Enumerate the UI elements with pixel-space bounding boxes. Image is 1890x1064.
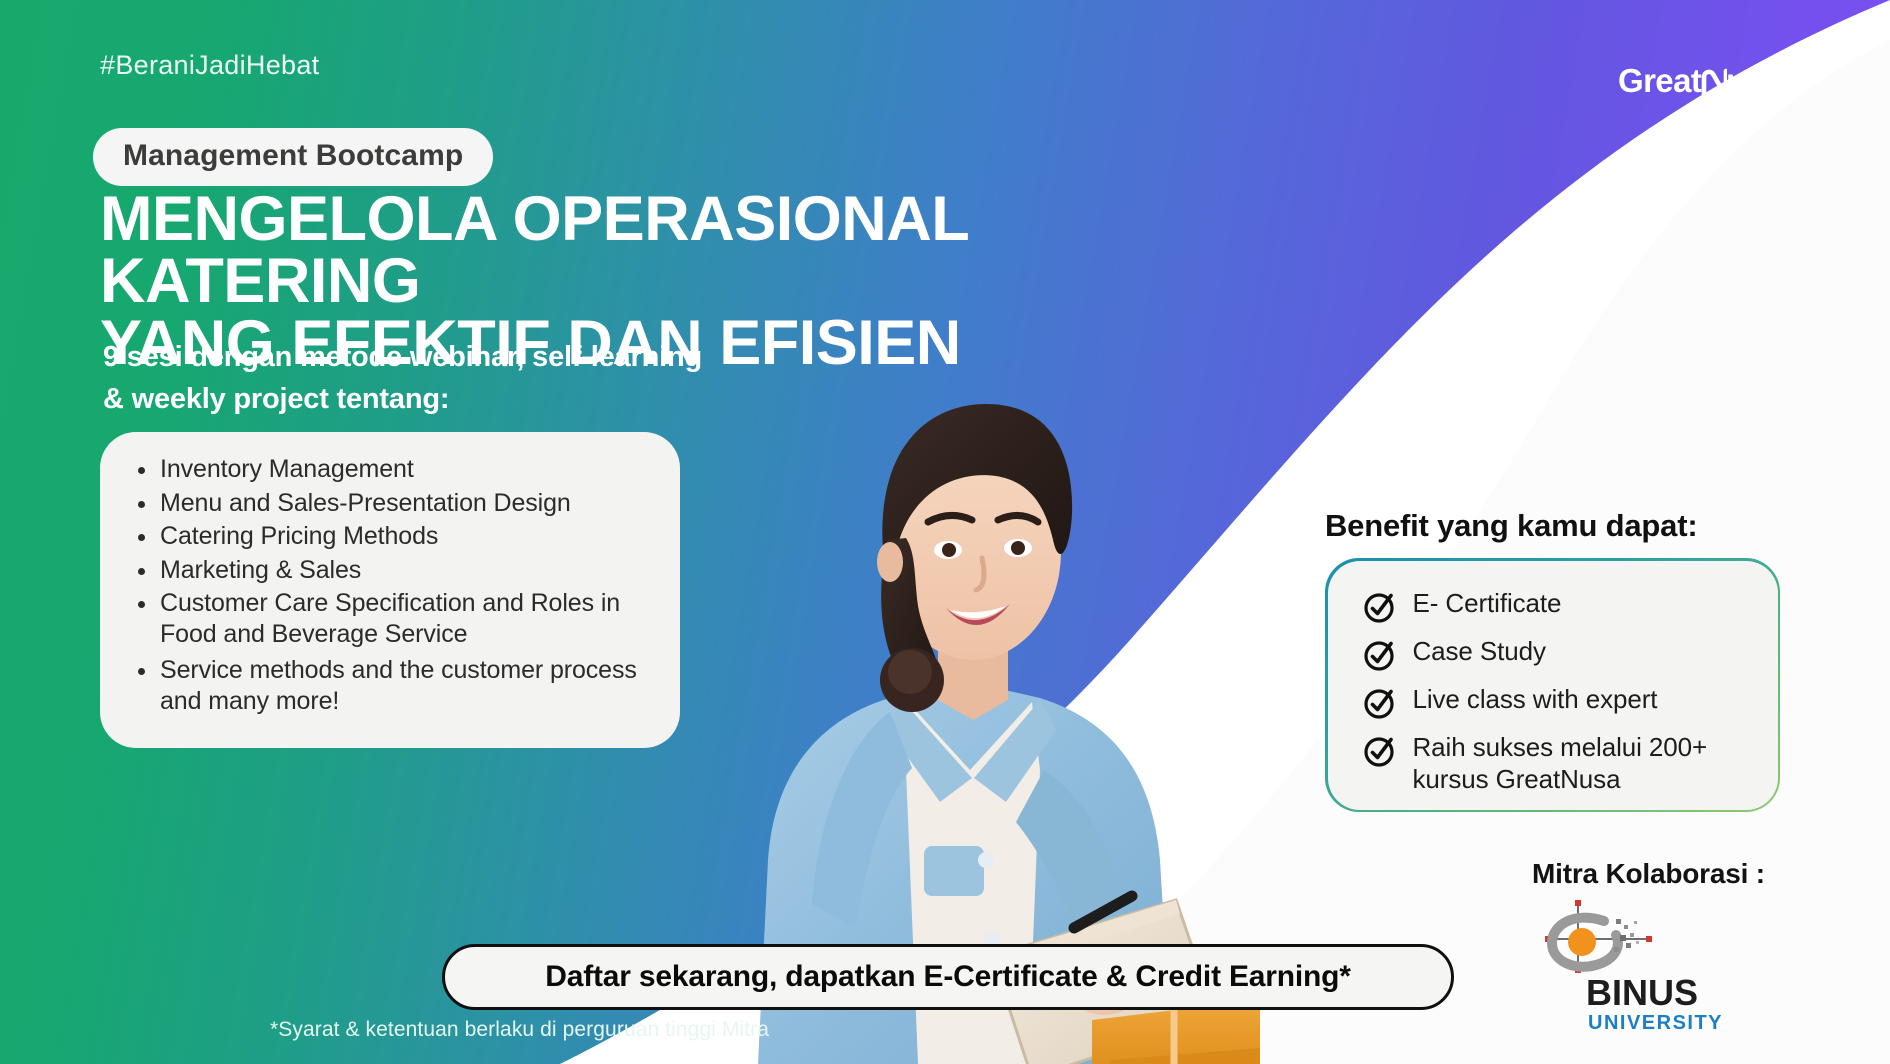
list-item: Catering Pricing Methods [160, 521, 652, 552]
binus-wordmark: BINUS [1586, 972, 1698, 1013]
benefits-card: E- Certificate Case Study [1325, 558, 1780, 812]
list-item: Inventory Management [160, 454, 652, 485]
check-circle-icon [1362, 590, 1396, 624]
binus-university-subtext: UNIVERSITY [1588, 1012, 1723, 1034]
list-item: Case Study [1362, 635, 1754, 672]
check-circle-icon [1362, 734, 1396, 768]
check-circle-icon [1362, 686, 1396, 720]
benefit-label: Case Study [1413, 635, 1546, 667]
greatnusa-logo: Great usa [1618, 62, 1781, 100]
session-summary: 9 sesi dengan metode webinar, self-learn… [103, 336, 703, 420]
list-item: Marketing & Sales [160, 555, 652, 586]
benefit-label: Live class with expert [1413, 683, 1658, 715]
list-item: Menu and Sales-Presentation Design [160, 488, 652, 519]
promotional-banner: #BeraniJadiHebat Great usa Management Bo… [0, 0, 1890, 1064]
register-cta-button[interactable]: Daftar sekarang, dapatkan E-Certificate … [442, 944, 1454, 1010]
list-item: Live class with expert [1362, 683, 1754, 720]
greatnusa-logo-part2: usa [1726, 62, 1781, 100]
benefit-label: E- Certificate [1413, 587, 1562, 619]
benefits-heading: Benefit yang kamu dapat: [1325, 508, 1697, 544]
list-item: Raih sukses melalui 200+ kursus GreatNus… [1362, 731, 1754, 795]
topics-list: Inventory Management Menu and Sales-Pres… [128, 454, 652, 717]
list-item: Service methods and the customer process… [160, 655, 652, 717]
topics-card: Inventory Management Menu and Sales-Pres… [100, 432, 680, 748]
n-swoosh-icon [1701, 68, 1727, 98]
benefit-label: Raih sukses melalui 200+ kursus GreatNus… [1413, 731, 1743, 795]
greatnusa-logo-part1: Great [1618, 62, 1701, 100]
list-item: Customer Care Specification and Roles in… [160, 588, 652, 650]
hashtag: #BeraniJadiHebat [100, 50, 319, 81]
list-item: E- Certificate [1362, 587, 1754, 624]
partner-heading: Mitra Kolaborasi : [1532, 858, 1765, 890]
terms-disclaimer: *Syarat & ketentuan berlaku di perguruan… [270, 1018, 769, 1042]
binus-university-logo: BINUS UNIVERSITY [1530, 895, 1730, 1045]
check-circle-icon [1362, 638, 1396, 672]
course-category-badge: Management Bootcamp [93, 128, 493, 186]
benefits-card-inner: E- Certificate Case Study [1328, 561, 1778, 810]
headline-line-1: MENGELOLA OPERASIONAL KATERING [100, 184, 968, 316]
